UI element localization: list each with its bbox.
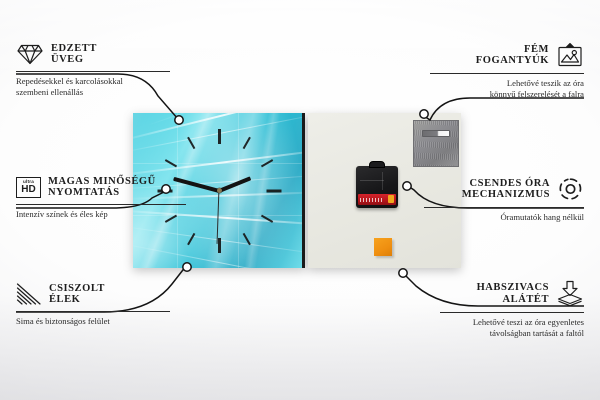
gear-icon xyxy=(557,176,584,202)
title-line-2: MECHANIZMUS xyxy=(462,189,550,200)
infographic-page: EDZETT ÜVEG Repedésekkel és karcolásokka… xyxy=(0,0,600,400)
callout-rule xyxy=(16,71,170,72)
callout-title-nyomtatas: MAGAS MINŐSÉGŰ NYOMTATÁS xyxy=(48,176,156,199)
callout-description-fem-fogantyuk: Lehetővé teszik az óra könnyű felszerelé… xyxy=(430,78,584,101)
foam-pad-icon xyxy=(556,280,584,307)
wall-mount-frame-icon xyxy=(556,42,584,68)
connector-endpoint-mechanizmus xyxy=(403,182,411,190)
title-line-2: FOGANTYÚK xyxy=(476,55,549,66)
callout-rule xyxy=(424,207,584,208)
beveled-edge-icon xyxy=(16,282,42,306)
callout-title-csiszolt-elek: CSISZOLT ÉLEK xyxy=(49,283,105,306)
title-line-1: CSISZOLT xyxy=(49,283,105,294)
callout-title-fem-fogantyuk: FÉM FOGANTYÚK xyxy=(476,44,549,67)
callout-rule xyxy=(16,311,170,312)
title-line-2: ÉLEK xyxy=(49,294,105,305)
connector-endpoint-edzett-uveg xyxy=(175,116,183,124)
callout-title-edzett-uveg: EDZETT ÜVEG xyxy=(51,43,97,66)
callout-description-edzett-uveg: Repedésekkel és karcolásokkal szembeni e… xyxy=(16,76,170,99)
callout-fem-fogantyuk: FÉM FOGANTYÚK Lehetővé teszik az óra kön… xyxy=(430,42,584,101)
connector-endpoint-csiszolt-elek xyxy=(183,263,191,271)
callout-description-nyomtatas: Intenzív színek és éles kép xyxy=(16,209,186,220)
ultra-hd-icon: ultra HD xyxy=(16,177,41,198)
title-line-2: ALÁTÉT xyxy=(477,294,549,305)
callout-rule xyxy=(430,73,584,74)
callout-description-csiszolt-elek: Sima és biztonságos felület xyxy=(16,316,170,327)
title-line-1: CSENDES ÓRA xyxy=(462,178,550,189)
connector-endpoint-fem-fogantyuk xyxy=(420,110,428,118)
connector-fem-fogantyuk xyxy=(424,98,584,120)
connector-endpoint-habszivacs xyxy=(399,269,407,277)
callout-description-habszivacs: Lehetővé teszi az óra egyenletes távolsá… xyxy=(440,317,584,340)
callout-title-mechanizmus: CSENDES ÓRA MECHANIZMUS xyxy=(462,178,550,201)
callout-edzett-uveg: EDZETT ÜVEG Repedésekkel és karcolásokka… xyxy=(16,42,170,99)
callout-rule xyxy=(16,204,186,205)
callout-title-habszivacs: HABSZIVACS ALÁTÉT xyxy=(477,282,549,305)
title-line-1: HABSZIVACS xyxy=(477,282,549,293)
callout-magas-minosegu-nyomtatas: ultra HD MAGAS MINŐSÉGŰ NYOMTATÁS Intenz… xyxy=(16,176,186,220)
title-line-1: MAGAS MINŐSÉGŰ xyxy=(48,176,156,187)
title-line-2: ÜVEG xyxy=(51,54,97,65)
title-line-1: EDZETT xyxy=(51,43,97,54)
title-line-2: NYOMTATÁS xyxy=(48,187,156,198)
ultra-hd-icon-main-text: HD xyxy=(21,185,35,195)
callout-csiszolt-elek: CSISZOLT ÉLEK Sima és biztonságos felüle… xyxy=(16,282,170,327)
callout-description-mechanizmus: Óramutatók hang nélkül xyxy=(424,212,584,223)
callout-habszivacs-alatet: HABSZIVACS ALÁTÉT Lehetővé teszi az óra … xyxy=(440,280,584,340)
callout-rule xyxy=(440,312,584,313)
callout-csendes-ora-mechanizmus: CSENDES ÓRA MECHANIZMUS Óramutatók hang … xyxy=(424,176,584,223)
title-line-1: FÉM xyxy=(476,44,549,55)
diamond-icon xyxy=(16,42,44,66)
